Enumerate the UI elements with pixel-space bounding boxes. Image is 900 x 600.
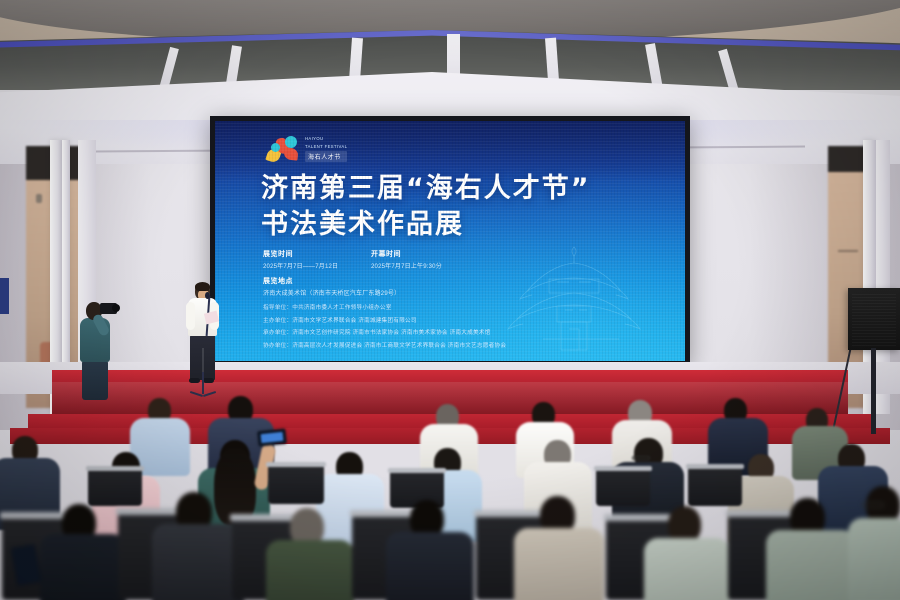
door-header-dark bbox=[828, 146, 868, 172]
led-screen: HAIYOU TALENT FESTIVAL 海右人才节 济南第三届“海右人才节… bbox=[215, 121, 685, 361]
audience-torso bbox=[766, 530, 856, 600]
event-photo-scene: HAIYOU TALENT FESTIVAL 海右人才节 济南第三届“海右人才节… bbox=[0, 0, 900, 600]
audience-torso bbox=[514, 528, 604, 600]
screen-meta-block: 展览时间 2025年7月7日——7月12日 开幕时间 2025年7月7日上午9:… bbox=[263, 249, 459, 270]
chair-frame bbox=[86, 466, 144, 471]
logo-shape-teal bbox=[285, 136, 297, 148]
audience-torso bbox=[152, 524, 244, 600]
screen-meta-row: 展览时间 2025年7月7日——7月12日 开幕时间 2025年7月7日上午9:… bbox=[263, 249, 459, 270]
screen-title: 济南第三届“海右人才节” 书法美术作品展 bbox=[261, 171, 591, 244]
audience-torso bbox=[386, 532, 474, 600]
festival-logo: HAIYOU TALENT FESTIVAL 海右人才节 bbox=[267, 135, 347, 163]
logo-english-line1: HAIYOU bbox=[305, 136, 347, 141]
festival-logo-text: HAIYOU TALENT FESTIVAL 海右人才节 bbox=[305, 136, 347, 162]
chair-frame bbox=[686, 464, 744, 469]
pa-speaker bbox=[848, 288, 900, 350]
audience-torso bbox=[266, 540, 354, 600]
exhibition-venue: 展览地点 济南大成美术馆（济南市天桥区汽车厂东路29号） bbox=[263, 276, 400, 297]
organizer-line: 主办单位：济南市文学艺术界联合会 济南城建集团有限公司 bbox=[263, 316, 506, 324]
corridor-hooks bbox=[838, 250, 858, 252]
logo-chinese: 海右人才节 bbox=[305, 151, 347, 162]
chair-back bbox=[268, 464, 324, 504]
audience-torso bbox=[644, 538, 730, 600]
opening-time: 开幕时间 2025年7月7日上午9:30分 bbox=[371, 249, 459, 270]
speaker-hair bbox=[195, 282, 210, 291]
organizer-line: 承办单位：济南市文艺创作研究院 济南市书法家协会 济南市美术家协会 济南大成美术… bbox=[263, 328, 506, 336]
pagoda-outline-icon bbox=[499, 243, 649, 355]
eyeglasses-icon bbox=[862, 502, 884, 508]
logo-shape-red-2 bbox=[283, 147, 298, 160]
audience-torso bbox=[848, 518, 900, 600]
chair-frame bbox=[388, 468, 446, 473]
screen-title-line2: 书法美术作品展 bbox=[261, 207, 591, 243]
organizer-line: 协办单位：济南高层次人才发展促进会 济南市工商联文学艺术界联合会 济南市文艺志愿… bbox=[263, 341, 506, 349]
chair-frame bbox=[266, 462, 326, 467]
corridor-lamp bbox=[36, 194, 42, 203]
opening-time-label: 开幕时间 bbox=[371, 249, 459, 259]
chair-back bbox=[688, 466, 742, 506]
audience-torso bbox=[40, 534, 126, 600]
microphone-head bbox=[205, 292, 210, 299]
festival-logo-mark bbox=[267, 135, 299, 163]
speaker-arm-left bbox=[186, 302, 195, 330]
chair-back bbox=[88, 468, 142, 506]
exhibition-dates: 展览时间 2025年7月7日——7月12日 bbox=[263, 249, 351, 270]
venue-value: 济南大成美术馆（济南市天桥区汽车厂东路29号） bbox=[263, 288, 400, 297]
venue-label: 展览地点 bbox=[263, 276, 400, 286]
wall-sign bbox=[0, 278, 9, 314]
logo-shape-teal-2 bbox=[271, 143, 280, 152]
camera-lens-icon bbox=[112, 304, 120, 312]
organizer-line: 指导单位：中共济南市委人才工作领导小组办公室 bbox=[263, 303, 506, 311]
led-screen-bezel: HAIYOU TALENT FESTIVAL 海右人才节 济南第三届“海右人才节… bbox=[210, 116, 690, 366]
chair-frame bbox=[594, 466, 652, 471]
eyeglasses-icon bbox=[632, 456, 650, 460]
screen-title-line1: 济南第三届“海右人才节” bbox=[261, 171, 591, 207]
opening-time-value: 2025年7月7日上午9:30分 bbox=[371, 261, 459, 270]
exhibition-dates-label: 展览时间 bbox=[263, 249, 351, 259]
chair-back bbox=[596, 468, 650, 506]
logo-english-line2: TALENT FESTIVAL bbox=[305, 144, 347, 149]
organizer-list: 指导单位：中共济南市委人才工作领导小组办公室 主办单位：济南市文学艺术界联合会 … bbox=[263, 303, 506, 349]
exhibition-dates-value: 2025年7月7日——7月12日 bbox=[263, 261, 351, 270]
